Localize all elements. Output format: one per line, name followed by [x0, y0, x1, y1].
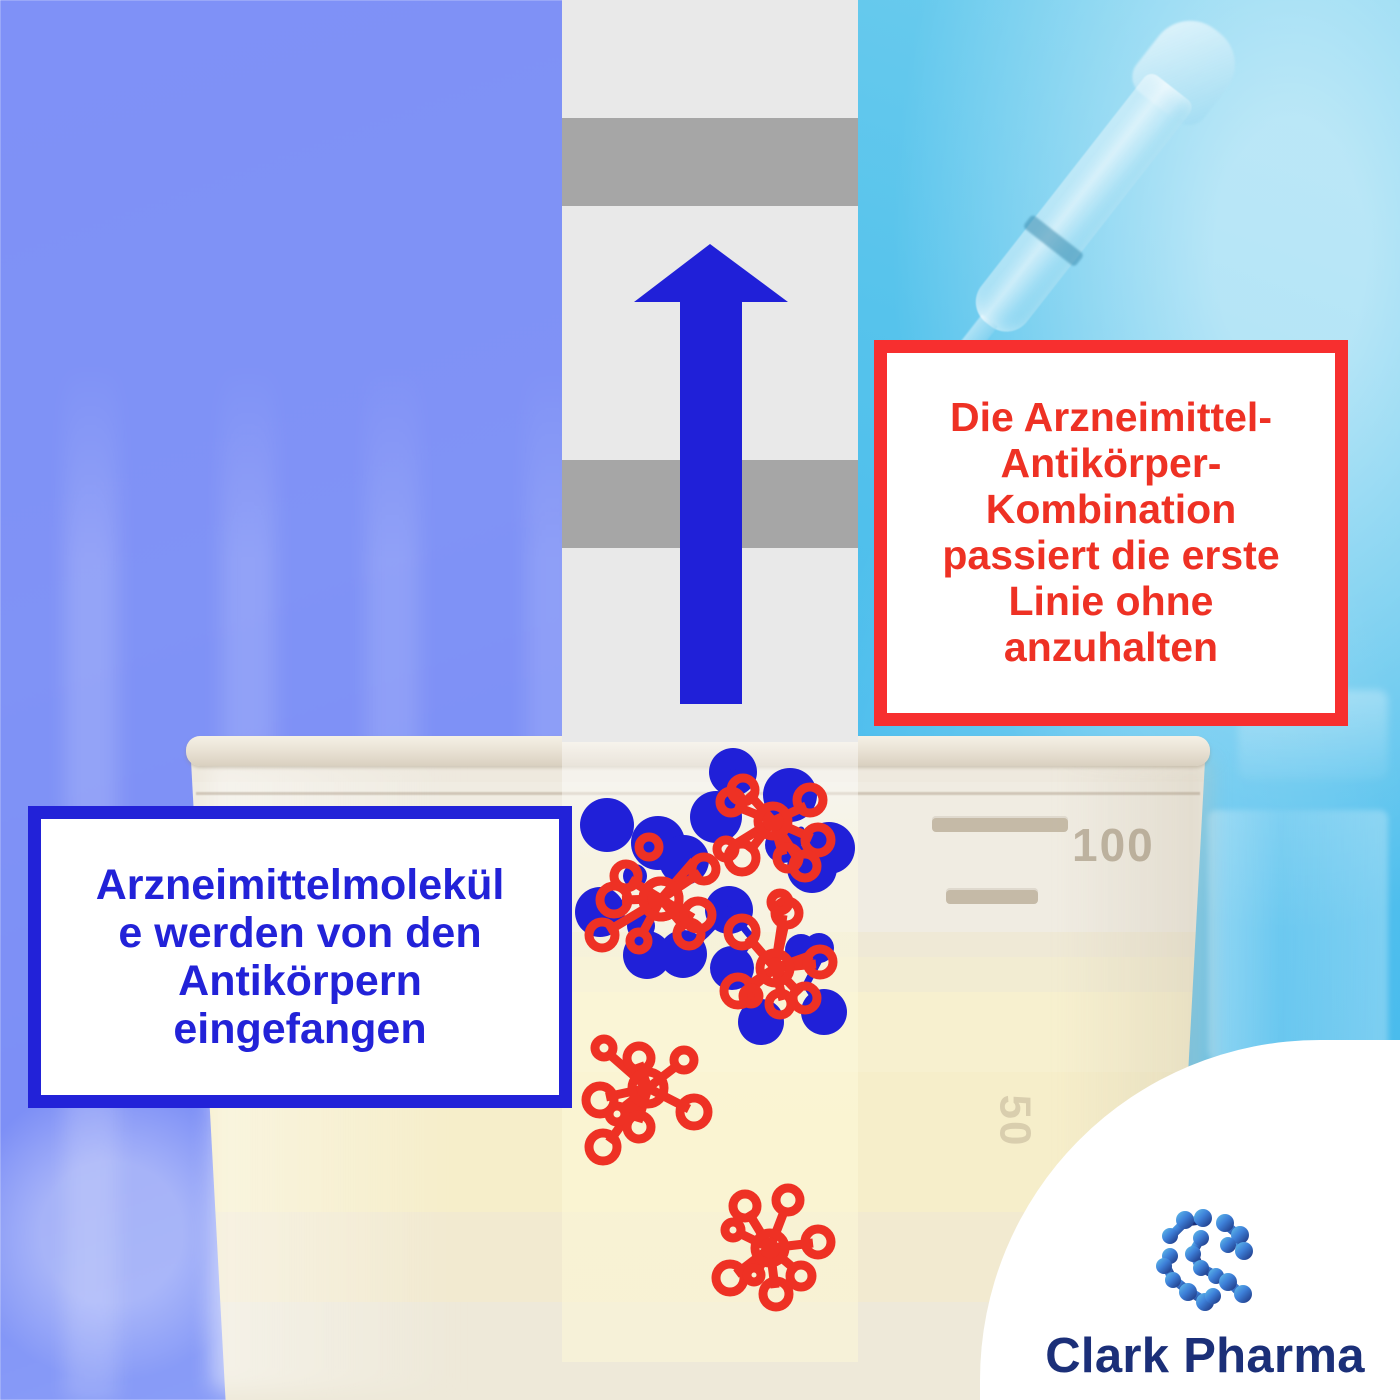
- graduation-label-50: 50: [989, 1095, 1039, 1148]
- flow-direction-arrow-up-icon: [632, 244, 788, 704]
- clark-pharma-molecule-c-icon: [1141, 1198, 1269, 1326]
- graduation-mark-mid: [946, 888, 1038, 904]
- test-strip-control-band: [562, 118, 858, 206]
- graduation-mark-100: [932, 816, 1068, 832]
- brand-logo-group: Clark Pharma: [1040, 1134, 1370, 1384]
- callout-red-text: Die Arzneimittel- Antikörper- Kombinatio…: [942, 395, 1279, 670]
- brand-name-label: Clark Pharma: [1045, 1328, 1365, 1384]
- test-strip-submerged-section: [562, 742, 858, 1362]
- infographic-canvas: 100 50: [0, 0, 1400, 1400]
- callout-blue-text: Arzneimittelmolekül e werden von den Ant…: [96, 861, 505, 1054]
- callout-box-red: Die Arzneimittel- Antikörper- Kombinatio…: [874, 340, 1348, 726]
- callout-box-blue: Arzneimittelmolekül e werden von den Ant…: [28, 806, 572, 1108]
- graduation-label-100: 100: [1072, 818, 1155, 872]
- background-glassware-lower: [1208, 810, 1388, 1070]
